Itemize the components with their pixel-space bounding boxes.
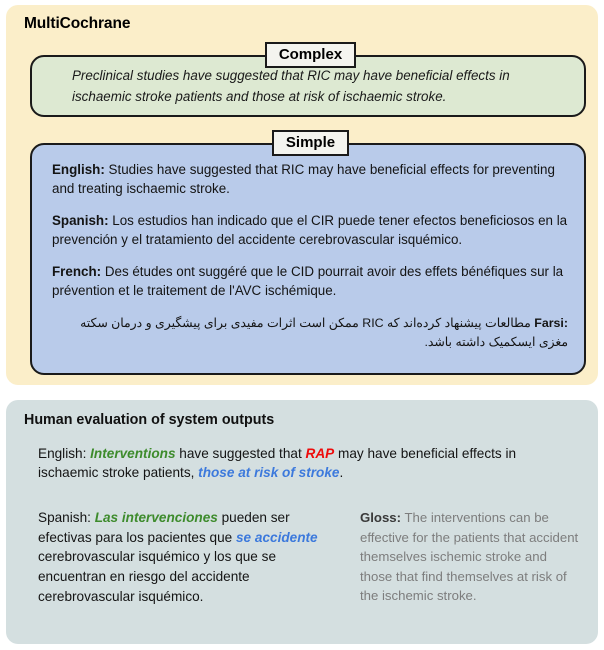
system-panel: MultiCochrane Complex Preclinical studie…	[6, 5, 598, 385]
eval-english-highlight-blue: those at risk of stroke	[198, 465, 339, 480]
language-label-english: English:	[52, 162, 105, 177]
evaluation-english-row: English: Interventions have suggested th…	[38, 444, 574, 483]
language-label-farsi: Farsi:	[534, 316, 568, 330]
evaluation-spanish-column: Spanish: Las intervenciones pueden ser e…	[38, 508, 338, 607]
eval-label-gloss: Gloss:	[360, 510, 401, 525]
simple-language-list: English: Studies have suggested that RIC…	[52, 161, 568, 351]
evaluation-panel: Human evaluation of system outputs Engli…	[6, 400, 598, 644]
evaluation-gloss-column: Gloss: The interventions can be effectiv…	[360, 508, 580, 607]
language-text-spanish: Los estudios han indicado que el CIR pue…	[52, 213, 567, 247]
eval-english-highlight-red: RAP	[306, 446, 335, 461]
complex-text: Preclinical studies have suggested that …	[72, 66, 562, 108]
complex-tab-label: Complex	[265, 42, 356, 68]
eval-label-spanish: Spanish:	[38, 510, 91, 525]
evaluation-title: Human evaluation of system outputs	[24, 412, 274, 428]
language-label-spanish: Spanish:	[52, 213, 109, 228]
eval-spanish-highlight-blue: se accidente	[236, 530, 318, 545]
eval-spanish-seg-3: cerebrovascular isquémico y los que se e…	[38, 549, 276, 603]
figure-root: MultiCochrane Complex Preclinical studie…	[0, 0, 604, 650]
system-title: MultiCochrane	[24, 15, 130, 33]
eval-english-seg-4: .	[339, 465, 343, 480]
evaluation-columns: Spanish: Las intervenciones pueden ser e…	[38, 508, 580, 607]
simple-item-farsi: Farsi: مطالعات پیشنهاد کرده‌اند که RIC م…	[52, 314, 568, 351]
simple-tab-label: Simple	[272, 130, 349, 156]
language-text-farsi: مطالعات پیشنهاد کرده‌اند که RIC ممکن است…	[80, 316, 568, 349]
simple-item-french: French: Des études ont suggéré que le CI…	[52, 263, 568, 300]
eval-english-highlight-green: Interventions	[90, 446, 175, 461]
eval-english-seg-2: have suggested that	[176, 446, 306, 461]
language-text-french: Des études ont suggéré que le CID pourra…	[52, 264, 563, 298]
simple-item-english: English: Studies have suggested that RIC…	[52, 161, 568, 198]
language-label-french: French:	[52, 264, 101, 279]
eval-spanish-highlight-green: Las intervenciones	[95, 510, 218, 525]
eval-label-english: English:	[38, 446, 86, 461]
simple-item-spanish: Spanish: Los estudios han indicado que e…	[52, 212, 568, 249]
language-text-english: Studies have suggested that RIC may have…	[52, 162, 555, 196]
simple-box: English: Studies have suggested that RIC…	[30, 143, 586, 375]
